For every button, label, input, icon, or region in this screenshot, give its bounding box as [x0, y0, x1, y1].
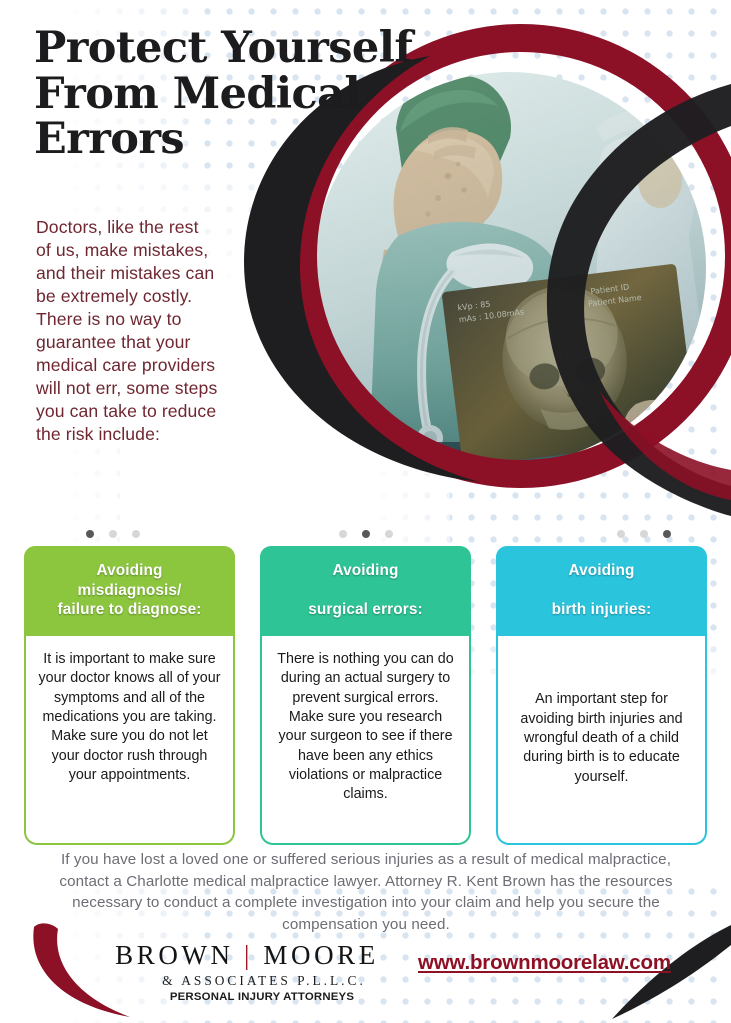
tips-card-row: Avoiding misdiagnosis/ failure to diagno…	[0, 525, 731, 845]
intro-paragraph: Doctors, like the rest of us, make mista…	[36, 216, 218, 446]
brand-second-word: MOORE	[263, 940, 379, 970]
card-dot-2	[109, 530, 117, 538]
card-heading-line-1: Avoiding	[506, 561, 697, 581]
card-dots-1	[24, 525, 235, 543]
card-heading-line-2: misdiagnosis/	[78, 582, 182, 599]
card-dot-3	[132, 530, 140, 538]
card-heading-line-2: surgical errors:	[270, 600, 461, 620]
card-dot-1	[86, 530, 94, 538]
card-heading-misdiagnosis: Avoiding misdiagnosis/ failure to diagno…	[24, 546, 235, 636]
card-dot-3	[663, 530, 671, 538]
brand-name: BROWN | MOORE	[82, 940, 412, 971]
page-title: Protect Yourself From Medical Errors	[34, 26, 414, 163]
card-body-misdiagnosis: It is important to make sure your doctor…	[24, 636, 235, 845]
tip-card-birth-injuries: Avoiding birth injuries: An important st…	[496, 525, 707, 845]
brand-subtitle: & ASSOCIATES P.L.L.C.	[82, 973, 412, 989]
page-title-line-3: Errors	[34, 114, 184, 164]
infographic-poster: kVp : 85 mAs : 10.08mAs Patient ID Patie…	[0, 0, 731, 1023]
brand-tagline: PERSONAL INJURY ATTORNEYS	[82, 991, 412, 1003]
brand-logo: BROWN | MOORE & ASSOCIATES P.L.L.C. PERS…	[82, 940, 412, 1003]
card-heading-line-2: birth injuries:	[506, 600, 697, 620]
tip-card-surgical-errors: Avoiding surgical errors: There is nothi…	[260, 525, 471, 845]
card-dot-2	[640, 530, 648, 538]
card-dots-2	[260, 525, 471, 543]
card-dot-1	[339, 530, 347, 538]
card-body-surgical-errors: There is nothing you can do during an ac…	[260, 636, 471, 845]
card-dot-3	[385, 530, 393, 538]
brand-divider: |	[244, 940, 253, 970]
card-heading-line-1: Avoiding	[270, 561, 461, 581]
card-body-birth-injuries: An important step for avoiding birth inj…	[496, 636, 707, 845]
page-title-line-1: Protect Yourself	[34, 23, 412, 73]
website-link[interactable]: www.brownmoorelaw.com	[418, 951, 671, 975]
brand-first-word: BROWN	[115, 940, 234, 970]
card-heading-line-3: failure to diagnose:	[58, 601, 202, 618]
tip-card-misdiagnosis: Avoiding misdiagnosis/ failure to diagno…	[24, 525, 235, 845]
card-dot-2	[362, 530, 370, 538]
card-dots-3	[496, 525, 707, 543]
card-dot-1	[617, 530, 625, 538]
card-heading-line-1: Avoiding	[96, 562, 162, 579]
page-title-line-2: From Medical	[34, 69, 360, 119]
card-heading-surgical-errors: Avoiding surgical errors:	[260, 546, 471, 636]
closing-paragraph: If you have lost a loved one or suffered…	[48, 849, 684, 935]
card-heading-birth-injuries: Avoiding birth injuries:	[496, 546, 707, 636]
